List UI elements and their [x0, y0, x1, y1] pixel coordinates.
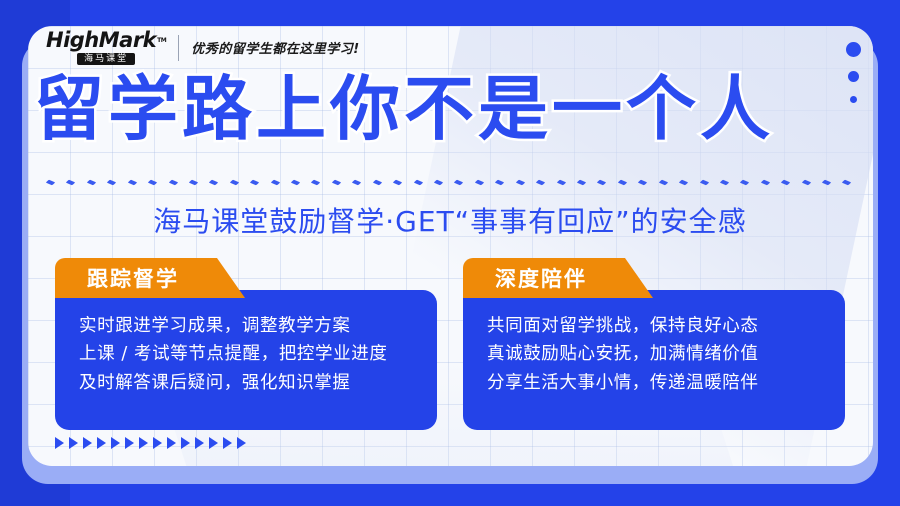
logo: HighMarkTM 海马课堂	[46, 30, 166, 65]
slash-mark	[168, 179, 178, 185]
arrow-icon	[195, 437, 204, 449]
arrow-icon	[111, 437, 120, 449]
feature-card-line: 及时解答课后疑问，强化知识掌握	[79, 369, 417, 397]
arrow-icon	[153, 437, 162, 449]
dot-large	[846, 42, 861, 57]
page-title: 留学路上你不是一个人	[34, 74, 864, 144]
feature-card-line: 实时跟进学习成果，调整教学方案	[79, 312, 417, 340]
slash-mark	[475, 179, 485, 185]
slash-mark	[454, 179, 464, 185]
slash-mark	[495, 179, 505, 185]
slash-mark	[720, 179, 730, 185]
slash-mark	[515, 179, 525, 185]
arrow-icon	[167, 437, 176, 449]
feature-card-tab: 跟踪督学	[55, 258, 245, 298]
slash-mark	[760, 179, 770, 185]
promo-banner: HighMarkTM 海马课堂 优秀的留学生都在这里学习! 留学路上你不是一个人…	[0, 0, 900, 506]
arrow-icon	[83, 437, 92, 449]
arrow-icon	[209, 437, 218, 449]
slash-mark	[291, 179, 301, 185]
feature-card-tab-label: 跟踪督学	[87, 263, 179, 293]
slash-mark	[148, 179, 158, 185]
arrow-decoration	[55, 437, 246, 449]
slash-mark	[127, 179, 137, 185]
slash-mark	[46, 179, 56, 185]
brand-tagline: 优秀的留学生都在这里学习!	[191, 38, 359, 57]
slash-mark	[66, 179, 76, 185]
arrow-icon	[139, 437, 148, 449]
header-divider	[178, 35, 179, 61]
feature-card-body: 共同面对留学挑战，保持良好心态真诚鼓励贴心安抚，加满情绪价值分享生活大事小情，传…	[463, 290, 845, 430]
slash-mark	[842, 179, 852, 185]
slash-mark	[393, 179, 403, 185]
feature-card-line: 上课 / 考试等节点提醒，把控学业进度	[79, 340, 417, 368]
arrow-icon	[69, 437, 78, 449]
slash-mark	[87, 179, 97, 185]
page-subtitle: 海马课堂鼓励督学·GET“事事有回应”的安全感	[0, 200, 900, 240]
arrow-icon	[181, 437, 190, 449]
feature-card: 跟踪督学实时跟进学习成果，调整教学方案上课 / 考试等节点提醒，把控学业进度及时…	[55, 258, 437, 430]
brand-header: HighMarkTM 海马课堂 优秀的留学生都在这里学习!	[46, 30, 360, 65]
slash-mark	[781, 179, 791, 185]
slash-mark	[699, 179, 709, 185]
dot-medium	[848, 71, 859, 82]
dashed-divider	[46, 176, 852, 188]
slash-mark	[822, 179, 832, 185]
slash-mark	[679, 179, 689, 185]
slash-mark	[372, 179, 382, 185]
slash-mark	[209, 179, 219, 185]
slash-mark	[577, 179, 587, 185]
logo-subtitle: 海马课堂	[77, 53, 135, 65]
feature-card: 深度陪伴共同面对留学挑战，保持良好心态真诚鼓励贴心安抚，加满情绪价值分享生活大事…	[463, 258, 845, 430]
slash-mark	[434, 179, 444, 185]
slash-mark	[107, 179, 117, 185]
arrow-icon	[97, 437, 106, 449]
slash-mark	[658, 179, 668, 185]
feature-card-line: 真诚鼓励贴心安抚，加满情绪价值	[487, 340, 825, 368]
slash-mark	[618, 179, 628, 185]
slash-mark	[638, 179, 648, 185]
slash-mark	[597, 179, 607, 185]
dot-small	[850, 96, 857, 103]
feature-card-tab-label: 深度陪伴	[495, 263, 587, 293]
dot-decoration	[836, 42, 870, 117]
arrow-icon	[223, 437, 232, 449]
slash-mark	[413, 179, 423, 185]
slash-mark	[332, 179, 342, 185]
slash-mark	[189, 179, 199, 185]
logo-wordmark: HighMarkTM	[46, 30, 166, 51]
slash-mark	[230, 179, 240, 185]
arrow-icon	[55, 437, 64, 449]
slash-mark	[352, 179, 362, 185]
feature-card-line: 分享生活大事小情，传递温暖陪伴	[487, 369, 825, 397]
slash-mark	[536, 179, 546, 185]
slash-mark	[556, 179, 566, 185]
feature-card-list: 跟踪督学实时跟进学习成果，调整教学方案上课 / 考试等节点提醒，把控学业进度及时…	[55, 258, 845, 430]
trademark-icon: TM	[157, 38, 166, 44]
arrow-icon	[237, 437, 246, 449]
slash-mark	[801, 179, 811, 185]
slash-mark	[250, 179, 260, 185]
slash-mark	[740, 179, 750, 185]
feature-card-body: 实时跟进学习成果，调整教学方案上课 / 考试等节点提醒，把控学业进度及时解答课后…	[55, 290, 437, 430]
logo-wordmark-text: HighMark	[46, 30, 156, 51]
arrow-icon	[125, 437, 134, 449]
feature-card-line: 共同面对留学挑战，保持良好心态	[487, 312, 825, 340]
slash-mark	[270, 179, 280, 185]
slash-mark	[311, 179, 321, 185]
feature-card-tab: 深度陪伴	[463, 258, 653, 298]
